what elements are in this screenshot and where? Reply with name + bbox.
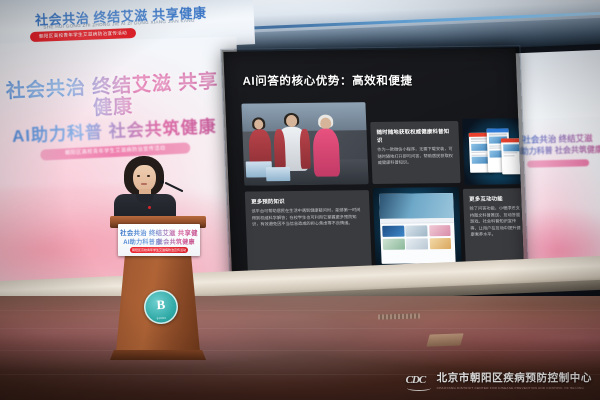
website-tile — [382, 226, 404, 237]
card-heading: 更多预防知识 — [251, 196, 363, 205]
slide-card-app-screenshots — [462, 118, 524, 185]
speaker-eye — [147, 175, 150, 177]
watermark-organization-en: CHAOYANG DISTRICT CENTER FOR DISEASE PRE… — [437, 386, 592, 390]
right-banner-text-group: 社会共治 终结艾滋 AI助力科普 社会共筑健康 — [507, 133, 600, 168]
website-tile — [429, 225, 451, 236]
slide-card-more-interaction: 更多互动功能 除了问答功能，小程序还支持图文科普推送、互动答题游戏、社会科普知识… — [463, 188, 525, 269]
website-tile-grid — [380, 223, 455, 251]
microphone-capsule — [160, 180, 164, 184]
podium-base — [110, 350, 206, 360]
microphone-boom — [165, 182, 184, 193]
cdc-logo-swoosh — [407, 385, 431, 391]
app-text-line — [471, 152, 485, 153]
slide-title: AI问答的核心优势：高效和便捷 — [242, 72, 413, 88]
watermark-organization-cn: 北京市朝阳区疾病预防控制中心 — [437, 373, 592, 385]
watermark: CDC 北京市朝阳区疾病预防控制中心 CHAOYANG DISTRICT CEN… — [406, 373, 592, 390]
slide-card-anytime-access: 随时随地获取权威健康科普知识 作为一款微信小程序，无需下载安装，可随时随地打开即… — [370, 121, 460, 184]
card-body: 作为一款微信小程序，无需下载安装，可随时随地打开即可问答，帮助居民获取权威健康科… — [377, 146, 454, 166]
website-hero-image — [379, 193, 454, 219]
website-tile — [429, 238, 451, 249]
podium-sign: 社会共治 终结艾滋 共享健康 AI助力科普 社会共筑健康 朝阳区高校青年学生艾滋… — [118, 224, 200, 256]
left-banner-text-group: 社会共治 终结艾滋 共享健康 AI助力科普 社会共筑健康 朝阳区高校青年学生艾滋… — [0, 70, 230, 162]
app-header-bar — [487, 128, 509, 132]
banner-line-1: 社会共治 终结艾滋 共享健康 — [0, 70, 229, 124]
presentation-slide-screen: AI问答的核心优势：高效和便捷 — [223, 48, 524, 289]
right-banner-subtitle-bar — [527, 159, 589, 168]
app-screenshot — [501, 138, 522, 174]
podium-sign-red-bar: 朝阳区高校青年学生艾滋病防治宣传活动 — [130, 247, 188, 253]
slide-card-grid: 随时随地获取权威健康科普知识 作为一款微信小程序，无需下载安装，可随时随地打开即… — [241, 100, 510, 271]
photo-person-vest — [299, 129, 311, 169]
slide-card-more-prevention: 更多预防知识 该平台可帮助居民在生活中遇到健康疑问时，能够第一时间得到权威科学解… — [245, 190, 372, 271]
slide-card-website-screenshot — [373, 187, 462, 270]
speaker-face — [133, 165, 156, 192]
app-text-line — [504, 155, 515, 156]
app-thumbnail — [503, 144, 519, 151]
podium-sign-line-2: AI助力科普 社会共筑健康 — [120, 237, 198, 246]
photo-person-head — [286, 115, 297, 127]
app-text-line — [471, 138, 488, 139]
slide-card-outreach-photo — [241, 102, 368, 185]
speaker-mouth — [141, 183, 147, 185]
photo-person-head — [254, 119, 263, 129]
app-text-line — [503, 152, 517, 153]
card-heading: 随时随地获取权威健康科普知识 — [376, 127, 453, 144]
app-text-line — [489, 134, 507, 135]
website-tile — [383, 238, 405, 249]
cdc-logo-icon: CDC — [406, 373, 432, 390]
card-body: 除了问答功能，小程序还支持图文科普推送、互动答题游戏、社会科普知识宣传等，让用户… — [469, 205, 522, 238]
right-banner-line-1: 社会共治 终结艾滋 — [507, 133, 600, 146]
speaker-eye — [137, 175, 140, 177]
photo-person-top — [312, 128, 340, 176]
photo-material-box — [266, 167, 291, 181]
card-body: 该平台可帮助居民在生活中遇到健康疑问时，能够第一时间得到权威科学解答；在校学生也… — [251, 207, 364, 228]
conference-stage-screenshot: 社会共治 终结艾滋 共享健康 SHE HUI GONG ZHI ZHONG JI… — [0, 0, 600, 400]
website-tile — [406, 226, 428, 237]
right-banner-line-2: AI助力科普 社会共筑健康 — [508, 145, 600, 157]
website-screenshot — [379, 193, 456, 264]
emblem-letter: B — [143, 296, 178, 314]
speaking-podium: 社会共治 终结艾滋 共享健康 AI助力科普 社会共筑健康 朝阳区高校青年学生艾滋… — [104, 202, 212, 362]
website-tile — [406, 238, 428, 249]
floor-access-plate — [426, 333, 463, 346]
watermark-text-group: 北京市朝阳区疾病预防控制中心 CHAOYANG DISTRICT CENTER … — [437, 373, 592, 390]
app-header-bar — [501, 138, 521, 142]
card-heading: 更多互动功能 — [469, 194, 521, 203]
